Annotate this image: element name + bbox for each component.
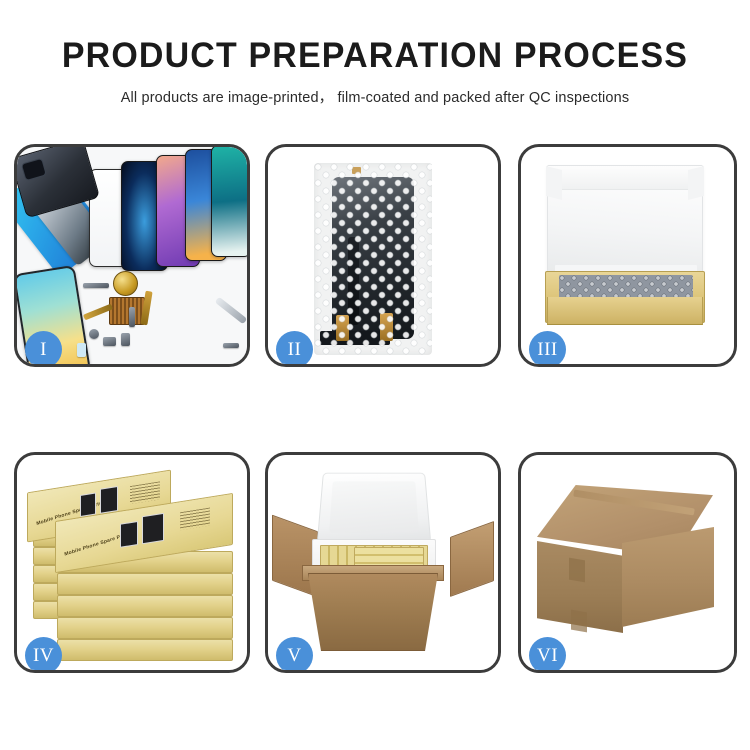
small-part-strip (83, 283, 109, 288)
step-badge-5: V (276, 637, 313, 673)
bubble-texture (314, 163, 432, 355)
lid-fold-edge (548, 166, 702, 190)
small-part-bracket (129, 307, 135, 327)
step-badge-2: II (276, 331, 313, 367)
carton-body (308, 573, 438, 651)
page-title: PRODUCT PREPARATION PROCESS (11, 38, 739, 75)
foam-lid-inner (329, 481, 419, 532)
lid-wing-right (688, 166, 704, 200)
carton-tab-lower (571, 610, 587, 633)
small-part-block (103, 337, 116, 346)
header: PRODUCT PREPARATION PROCESS All products… (0, 38, 750, 107)
stacked-box (57, 573, 233, 595)
small-part-screw (223, 343, 239, 348)
box-product-photo (100, 486, 118, 514)
box-product-photo (80, 492, 96, 517)
step-badge-3: III (529, 331, 566, 367)
phone-screen-teal (211, 147, 247, 257)
camera-module (21, 158, 47, 181)
lid-wing-left (546, 166, 562, 200)
step-badge-6: VI (529, 637, 566, 673)
small-part-chip (121, 333, 130, 346)
process-step-1[interactable]: I (14, 144, 250, 367)
box-product-photo (120, 521, 138, 548)
process-step-grid: I II (0, 144, 750, 684)
step-5-image (268, 455, 498, 670)
white-box-lid (547, 165, 703, 281)
step-badge-4: IV (25, 637, 62, 673)
chip-array-part (109, 297, 145, 325)
step-2-image (268, 147, 498, 364)
step-4-image: Mobile Phone Spare Parts Mobile Phone Sp… (17, 455, 247, 670)
small-part-round (89, 329, 99, 339)
process-step-3[interactable]: III (518, 144, 737, 367)
carton-tab-upper (569, 558, 585, 583)
step-badge-1: I (25, 331, 62, 367)
foam-box-lid (317, 473, 432, 544)
stacked-box (57, 617, 233, 639)
page-subtitle: All products are image-printed， film-coa… (0, 86, 750, 107)
bubble-wrap-bag (314, 163, 432, 355)
speaker-coil-part (113, 271, 138, 296)
process-step-4[interactable]: Mobile Phone Spare Parts Mobile Phone Sp… (14, 452, 250, 673)
step-1-image (17, 147, 247, 364)
process-step-5[interactable]: V (265, 452, 501, 673)
small-part-sensor (77, 343, 86, 357)
stacked-box (57, 595, 233, 617)
stacked-box (57, 639, 233, 661)
product-preparation-infographic: PRODUCT PREPARATION PROCESS All products… (0, 0, 750, 750)
box-product-photo (142, 513, 164, 544)
kraft-box-front (547, 297, 703, 325)
process-step-6[interactable]: VI (518, 452, 737, 673)
process-step-2[interactable]: II (265, 144, 501, 367)
